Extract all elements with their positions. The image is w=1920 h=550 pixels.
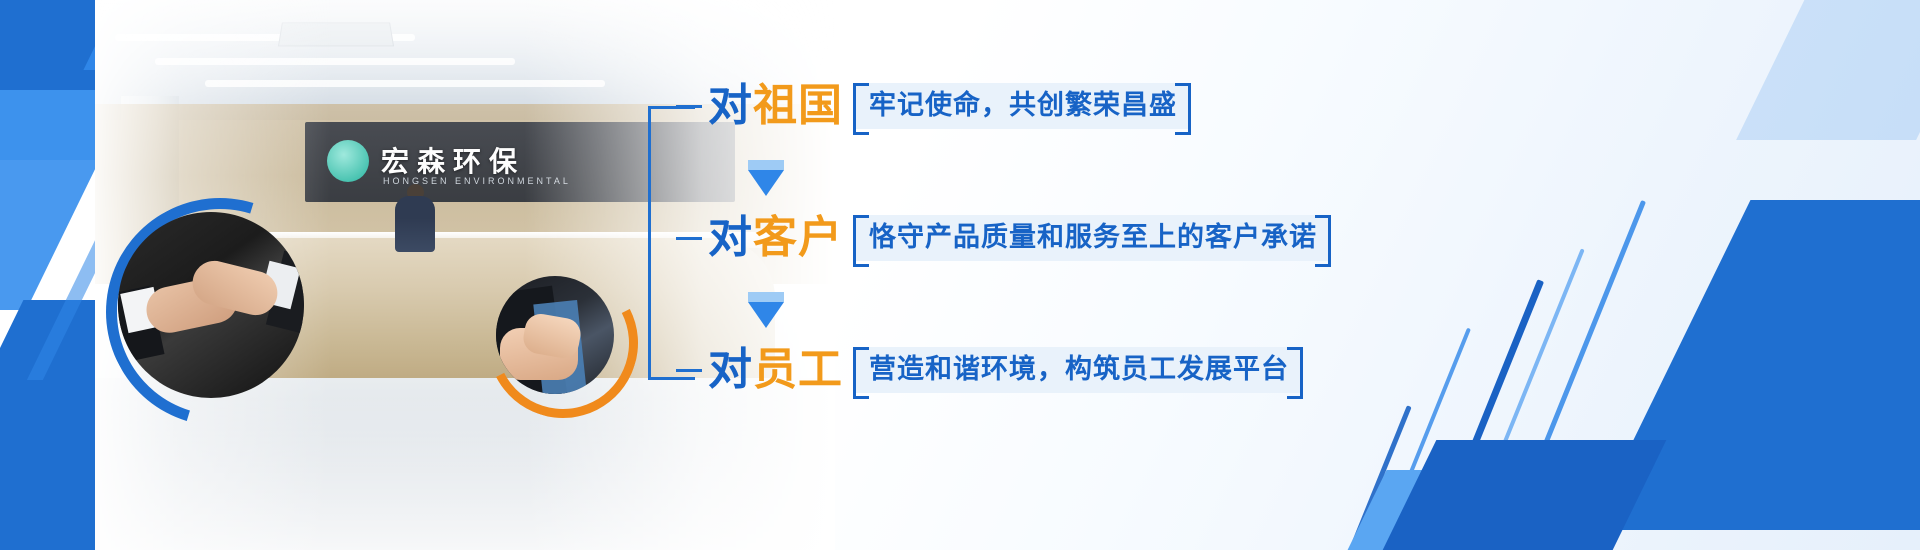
decor-stripe-right-1: [1529, 200, 1646, 480]
connector-tick: [676, 105, 702, 108]
connector-tick: [676, 237, 702, 240]
culture-flow: 对祖国 牢记使命，共创繁荣昌盛 对客户 恪守产品质量和服务至上的客户承诺 对员工…: [648, 74, 1348, 404]
company-culture-banner: 宏森环保 HONGSEN ENVIRONMENTAL 对祖国: [0, 0, 1920, 550]
connector-tick: [676, 369, 702, 372]
arrow-cap: [748, 292, 784, 302]
heading-subject: 员工: [753, 345, 843, 394]
heading-prefix: 对: [708, 345, 753, 394]
culture-heading-2: 对客户: [708, 216, 843, 260]
heading-prefix: 对: [708, 213, 753, 262]
decor-stripe-right-4: [1381, 328, 1471, 543]
culture-heading-1: 对祖国: [708, 84, 843, 128]
down-triangle-arrow-icon: [748, 160, 784, 196]
culture-heading-3: 对员工: [708, 348, 843, 392]
decor-stripe-right-3: [1429, 279, 1544, 550]
decor-shape-right-3: [1344, 440, 1667, 550]
heading-subject: 祖国: [753, 81, 843, 130]
decor-shape-right-1: [1590, 200, 1920, 530]
decor-stripe-right-2: [1487, 248, 1584, 481]
down-triangle-arrow-icon: [748, 292, 784, 328]
arrow-triangle: [748, 170, 784, 196]
heading-subject: 客户: [753, 213, 843, 262]
culture-statement-1: 牢记使命，共创繁荣昌盛: [853, 83, 1191, 128]
culture-row-1: 对祖国 牢记使命，共创繁荣昌盛: [676, 79, 1191, 133]
culture-statement-3: 营造和谐环境，构筑员工发展平台: [853, 347, 1303, 392]
arrow-cap: [748, 160, 784, 170]
heading-prefix: 对: [708, 81, 753, 130]
culture-row-3: 对员工 营造和谐环境，构筑员工发展平台: [676, 343, 1303, 397]
decor-shape-right-2: [1736, 0, 1920, 140]
team-photo: [496, 276, 614, 394]
handshake-photo: [118, 212, 304, 398]
culture-row-2: 对客户 恪守产品质量和服务至上的客户承诺: [676, 211, 1331, 265]
culture-statement-2: 恪守产品质量和服务至上的客户承诺: [853, 215, 1331, 260]
decor-stripe-right-5: [1343, 405, 1411, 550]
arrow-triangle: [748, 302, 784, 328]
decor-shape-right-4: [1313, 470, 1526, 550]
